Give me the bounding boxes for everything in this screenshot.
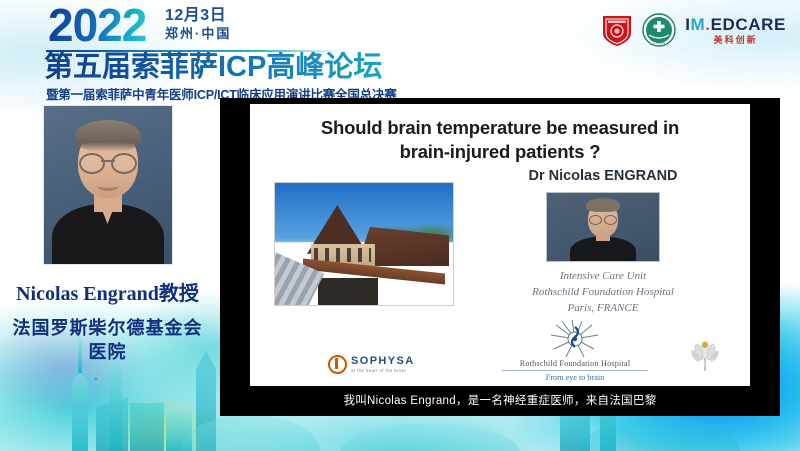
sophysa-logo: SOPHYSA at the heart of the brain <box>328 355 415 374</box>
event-main-title: 第五届索菲萨ICP高峰论坛 <box>44 52 382 84</box>
event-year: 2022 <box>48 2 146 48</box>
slide-title: Should brain temperature be measured in … <box>250 116 750 163</box>
affiliation-line3: Paris, FRANCE <box>478 301 728 317</box>
rothschild-tagline: From eye to brain <box>502 373 648 382</box>
affiliation-line2: Rothschild Foundation Hospital <box>478 285 728 301</box>
portrait-hair <box>75 120 141 152</box>
speaker-organization: 法国罗斯柴尔德基金会 医院 <box>0 316 215 365</box>
speaker-portrait-photo <box>43 105 173 265</box>
speaker-org-line1: 法国罗斯柴尔德基金会 <box>0 316 215 340</box>
red-shield-emblem-icon <box>601 13 633 47</box>
rothschild-starburst-icon <box>548 319 602 359</box>
speaker-name: Nicolas Engrand教授 <box>0 277 215 306</box>
speaker-block: Nicolas Engrand教授 法国罗斯柴尔德基金会 医院 <box>0 105 215 365</box>
portrait-glasses <box>79 153 137 170</box>
doctor-headshot-photo <box>546 192 660 262</box>
svg-text:CHINA: CHINA <box>653 40 666 45</box>
event-date-city: 12月3日 郑州·中国 <box>165 6 231 42</box>
rothschild-foundation-logo: Rothschild Foundation Hospital From eye … <box>502 319 648 382</box>
speaker-org-line2: 医院 <box>0 340 215 364</box>
slide-right-column: Dr Nicolas ENGRAND Intensive Care Unit R… <box>478 168 728 317</box>
sponsor-logos: CHINA IM.EDCARE 美科创新 <box>601 13 786 47</box>
imedcare-logo: IM.EDCARE 美科创新 <box>685 16 786 45</box>
event-city: 郑州·中国 <box>165 26 231 42</box>
slide-left-column <box>274 182 464 306</box>
sophysa-mark-icon <box>328 355 347 374</box>
event-date: 12月3日 <box>165 6 231 26</box>
affiliation-line1: Intensive Care Unit <box>478 269 728 285</box>
portrait-smile <box>97 180 119 191</box>
poster-header: 2022 12月3日 郑州·中国 第五届索菲萨ICP高峰论坛 暨第一届索菲萨中青… <box>0 0 800 100</box>
slide-title-line1: Should brain temperature be measured in <box>276 116 724 140</box>
doctor-affiliation: Intensive Care Unit Rothschild Foundatio… <box>478 269 728 317</box>
imedcare-wordmark: IM.EDCARE <box>685 16 786 33</box>
imedcare-chinese-name: 美科创新 <box>714 36 758 45</box>
sophysa-tagline: at the heart of the brain <box>351 369 415 374</box>
poster-stage: 2022 12月3日 郑州·中国 第五届索菲萨ICP高峰论坛 暨第一届索菲萨中青… <box>0 0 800 451</box>
rothschild-name: Rothschild Foundation Hospital <box>502 359 648 371</box>
green-medical-circle-logo-icon: CHINA <box>642 13 676 47</box>
white-flower-icon <box>690 338 720 372</box>
hospital-building-photo <box>274 182 454 306</box>
sophysa-wordmark: SOPHYSA <box>351 356 415 367</box>
slide-title-line2: brain-injured patients ? <box>276 140 724 164</box>
video-caption-subtitle: 我叫Nicolas Engrand，是一名神经重症医师，来自法国巴黎 <box>220 392 780 408</box>
video-player-frame[interactable]: Should brain temperature be measured in … <box>220 98 780 416</box>
doctor-name: Dr Nicolas ENGRAND <box>478 168 728 184</box>
presentation-slide: Should brain temperature be measured in … <box>250 104 750 386</box>
